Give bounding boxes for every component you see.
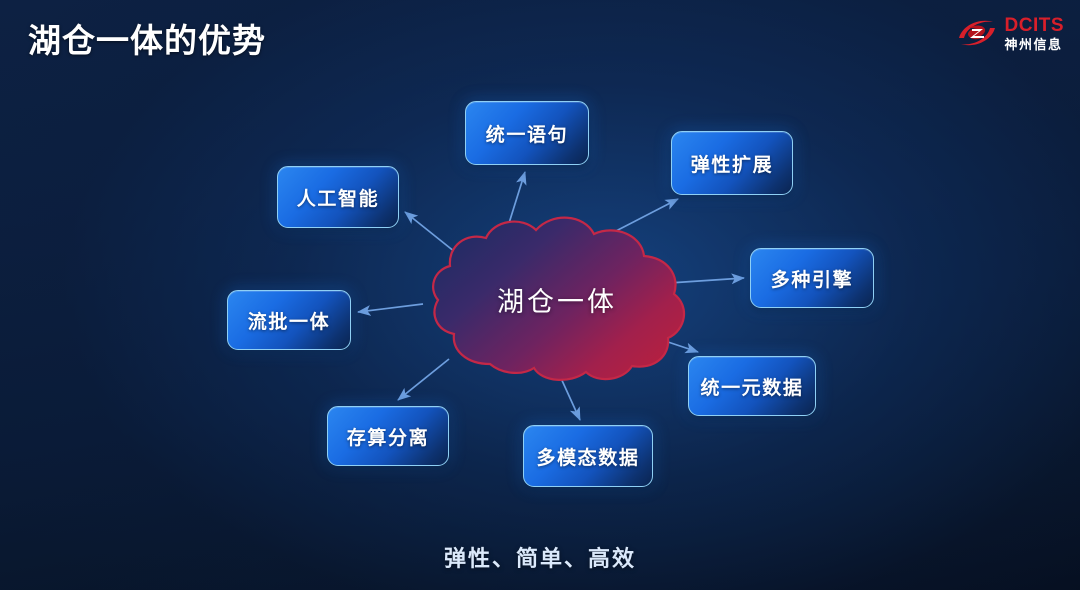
diagram-node-label: 人工智能 (297, 184, 379, 211)
diagram-node-多种引擎[interactable]: 多种引擎 (750, 248, 874, 308)
diagram-node-label: 流批一体 (248, 307, 330, 334)
diagram-node-label: 多模态数据 (536, 443, 639, 470)
hub-and-spoke-diagram: 湖仓一体 统一语句弹性扩展多种引擎统一元数据多模态数据存算分离流批一体人工智能 (0, 0, 1080, 590)
diagram-node-label: 弹性扩展 (691, 150, 773, 177)
diagram-node-label: 多种引擎 (771, 265, 853, 292)
diagram-node-统一语句[interactable]: 统一语句 (465, 101, 589, 165)
diagram-node-存算分离[interactable]: 存算分离 (327, 406, 449, 466)
diagram-node-label: 存算分离 (347, 423, 429, 450)
diagram-node-多模态数据[interactable]: 多模态数据 (523, 425, 653, 487)
diagram-node-弹性扩展[interactable]: 弹性扩展 (671, 131, 793, 195)
diagram-node-label: 统一语句 (486, 120, 568, 147)
center-cloud-node[interactable]: 湖仓一体 (418, 214, 696, 384)
diagram-node-流批一体[interactable]: 流批一体 (227, 290, 351, 350)
slide-tagline: 弹性、简单、高效 (0, 541, 1080, 573)
diagram-node-label: 统一元数据 (700, 373, 803, 400)
arrow-to-node-7 (358, 304, 423, 312)
diagram-node-统一元数据[interactable]: 统一元数据 (688, 356, 816, 416)
diagram-node-人工智能[interactable]: 人工智能 (277, 166, 399, 228)
slide-canvas: 湖仓一体的优势 DCITS 神州信息 (0, 0, 1080, 590)
